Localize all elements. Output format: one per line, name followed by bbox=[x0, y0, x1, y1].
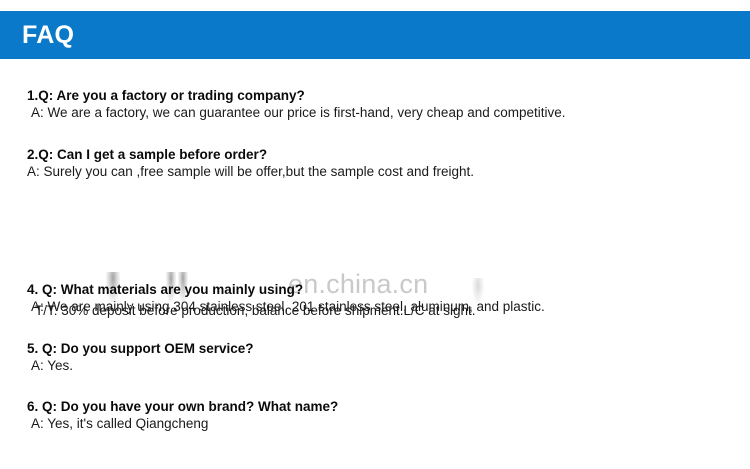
faq-item-2: 2.Q: Can I get a sample before order? A:… bbox=[0, 146, 750, 181]
faq-answer-1: A: We are a factory, we can guarantee ou… bbox=[0, 104, 750, 122]
faq-answer-5: A: Yes. bbox=[0, 357, 750, 375]
faq-answer-6: A: Yes, it's called Qiangcheng bbox=[0, 415, 750, 433]
faq-item-1: 1.Q: Are you a factory or trading compan… bbox=[0, 87, 750, 122]
faq-answer-4: A: We are mainly using 304 stainless ste… bbox=[0, 298, 750, 316]
faq-question-6: 6. Q: Do you have your own brand? What n… bbox=[0, 398, 750, 415]
faq-answer-2: A: Surely you can ,free sample will be o… bbox=[0, 163, 750, 181]
faq-item-5: 5. Q: Do you support OEM service? A: Yes… bbox=[0, 340, 750, 375]
faq-item-6: 6. Q: Do you have your own brand? What n… bbox=[0, 398, 750, 433]
faq-question-1: 1.Q: Are you a factory or trading compan… bbox=[0, 87, 750, 104]
page-title: FAQ bbox=[22, 23, 74, 48]
faq-question-4: 4. Q: What materials are you mainly usin… bbox=[0, 281, 750, 298]
faq-page: FAQ 1.Q: Are you a factory or trading co… bbox=[0, 0, 750, 469]
faq-header-bar: FAQ bbox=[0, 11, 750, 59]
faq-question-2: 2.Q: Can I get a sample before order? bbox=[0, 146, 750, 163]
faq-content: 1.Q: Are you a factory or trading compan… bbox=[0, 59, 750, 469]
faq-item-4: 4. Q: What materials are you mainly usin… bbox=[0, 281, 750, 316]
faq-question-5: 5. Q: Do you support OEM service? bbox=[0, 340, 750, 357]
